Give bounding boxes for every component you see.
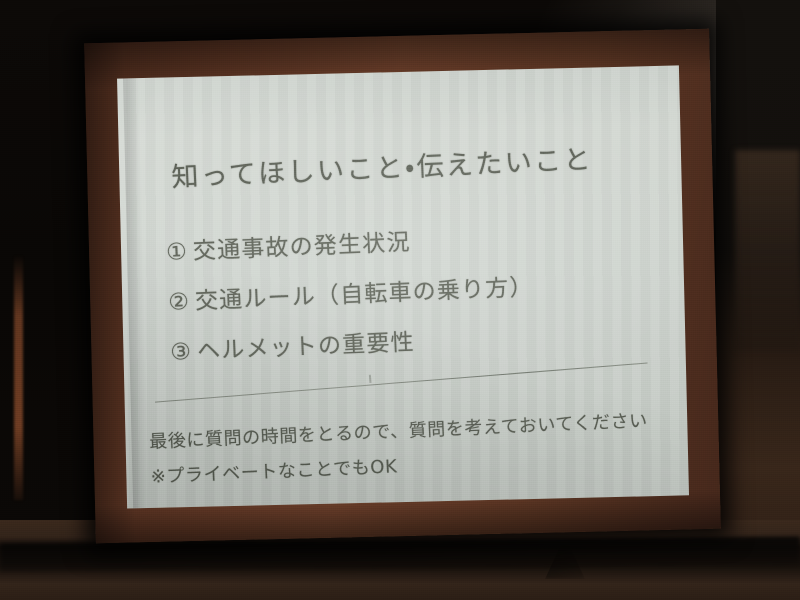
background-left-wood-strip [14,255,23,500]
projector-screen-frame: 知ってほしいこと・伝えたいこと ①交通事故の発生状況 ②交通ルール（自転車の乗り… [84,29,721,544]
screen-vignette [117,65,689,508]
photo-canvas: 知ってほしいこと・伝えたいこと ①交通事故の発生状況 ②交通ルール（自転車の乗り… [0,0,800,600]
projection-surface: 知ってほしいこと・伝えたいこと ①交通事故の発生状況 ②交通ルール（自転車の乗り… [117,65,689,508]
background-right-panel [735,150,800,350]
